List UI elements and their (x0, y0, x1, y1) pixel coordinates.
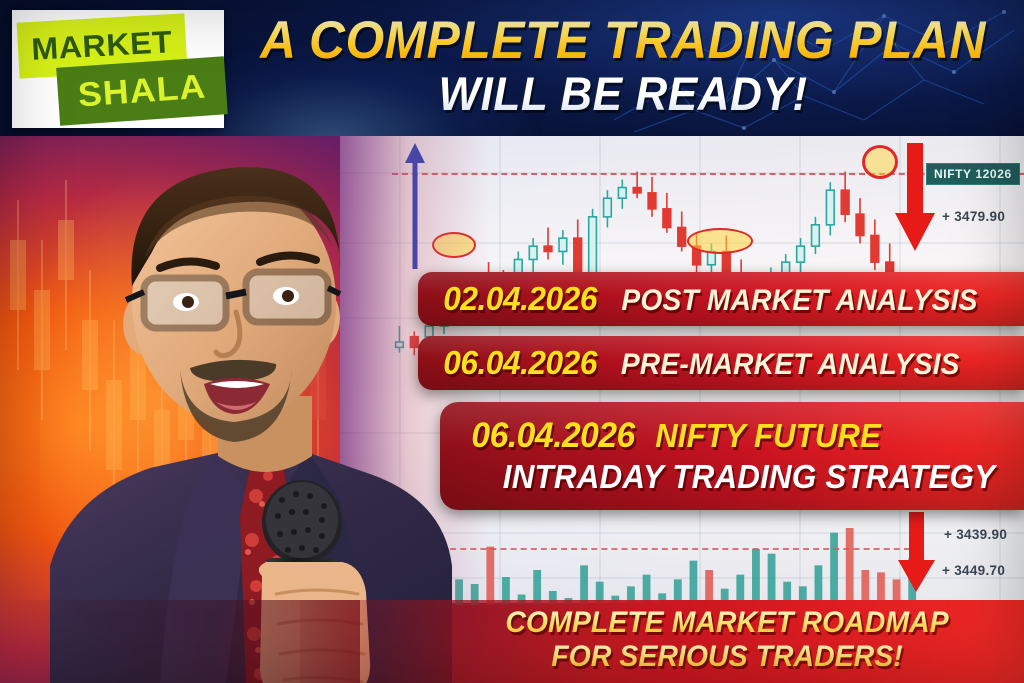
footer-line-2: FOR SERIOUS TRADERS! (445, 642, 1009, 673)
poster-canvas: NIFTY 12026 + 3479.90 + 3439.90 + 3449.7… (0, 0, 1024, 683)
schedule-banner-2[interactable]: 06.04.2026 PRE-MARKET ANALYSIS (418, 336, 1024, 390)
brand-logo[interactable]: MARKET SHALA (12, 10, 224, 128)
logo-text-shala: SHALA (77, 67, 208, 115)
volume-reference-line (440, 548, 920, 550)
headline-line-2: WILL BE READY! (252, 71, 995, 116)
headline: A COMPLETE TRADING PLAN WILL BE READY! (228, 16, 1018, 116)
logo-shala-block: SHALA (56, 56, 228, 126)
instrument-tag: NIFTY 12026 (926, 163, 1020, 185)
price-label-lower-2: + 3449.70 (942, 563, 1005, 578)
banner-3-row: 06.04.2026 NIFTY FUTURE (468, 416, 888, 456)
bearish-arrow-down-icon (893, 143, 937, 253)
footer-line-1: COMPLETE MARKET ROADMAP (445, 608, 1009, 639)
banner-3-subtitle: INTRADAY TRADING STRATEGY (497, 458, 995, 496)
highlight-ellipse-mid (687, 228, 753, 254)
banner-2-row: 06.04.2026 PRE-MARKET ANALYSIS (440, 344, 971, 382)
banner-1-date: 02.04.2026 (443, 280, 597, 318)
banner-1-title: POST MARKET ANALYSIS (622, 284, 978, 318)
price-label-lower-1: + 3439.90 (944, 527, 1007, 542)
price-label-top: + 3479.90 (942, 209, 1005, 224)
schedule-banner-3[interactable]: 06.04.2026 NIFTY FUTURE INTRADAY TRADING… (440, 402, 1024, 510)
banner-3-title: NIFTY FUTURE (655, 417, 881, 455)
footer-red-band-fade (0, 600, 360, 683)
footer-text: COMPLETE MARKET ROADMAP FOR SERIOUS TRAD… (430, 608, 1024, 672)
banner-2-date: 06.04.2026 (443, 344, 597, 382)
presenter-portrait (40, 96, 460, 683)
headline-line-1: A COMPLETE TRADING PLAN (252, 16, 995, 67)
schedule-banner-1[interactable]: 02.04.2026 POST MARKET ANALYSIS (418, 272, 1024, 326)
bearish-arrow-down-lower-icon (897, 512, 937, 594)
banner-3-date: 06.04.2026 (471, 416, 634, 456)
volume-bar-chart (420, 520, 920, 605)
banner-1-row: 02.04.2026 POST MARKET ANALYSIS (440, 280, 989, 318)
banner-2-title: PRE-MARKET ANALYSIS (621, 348, 960, 382)
